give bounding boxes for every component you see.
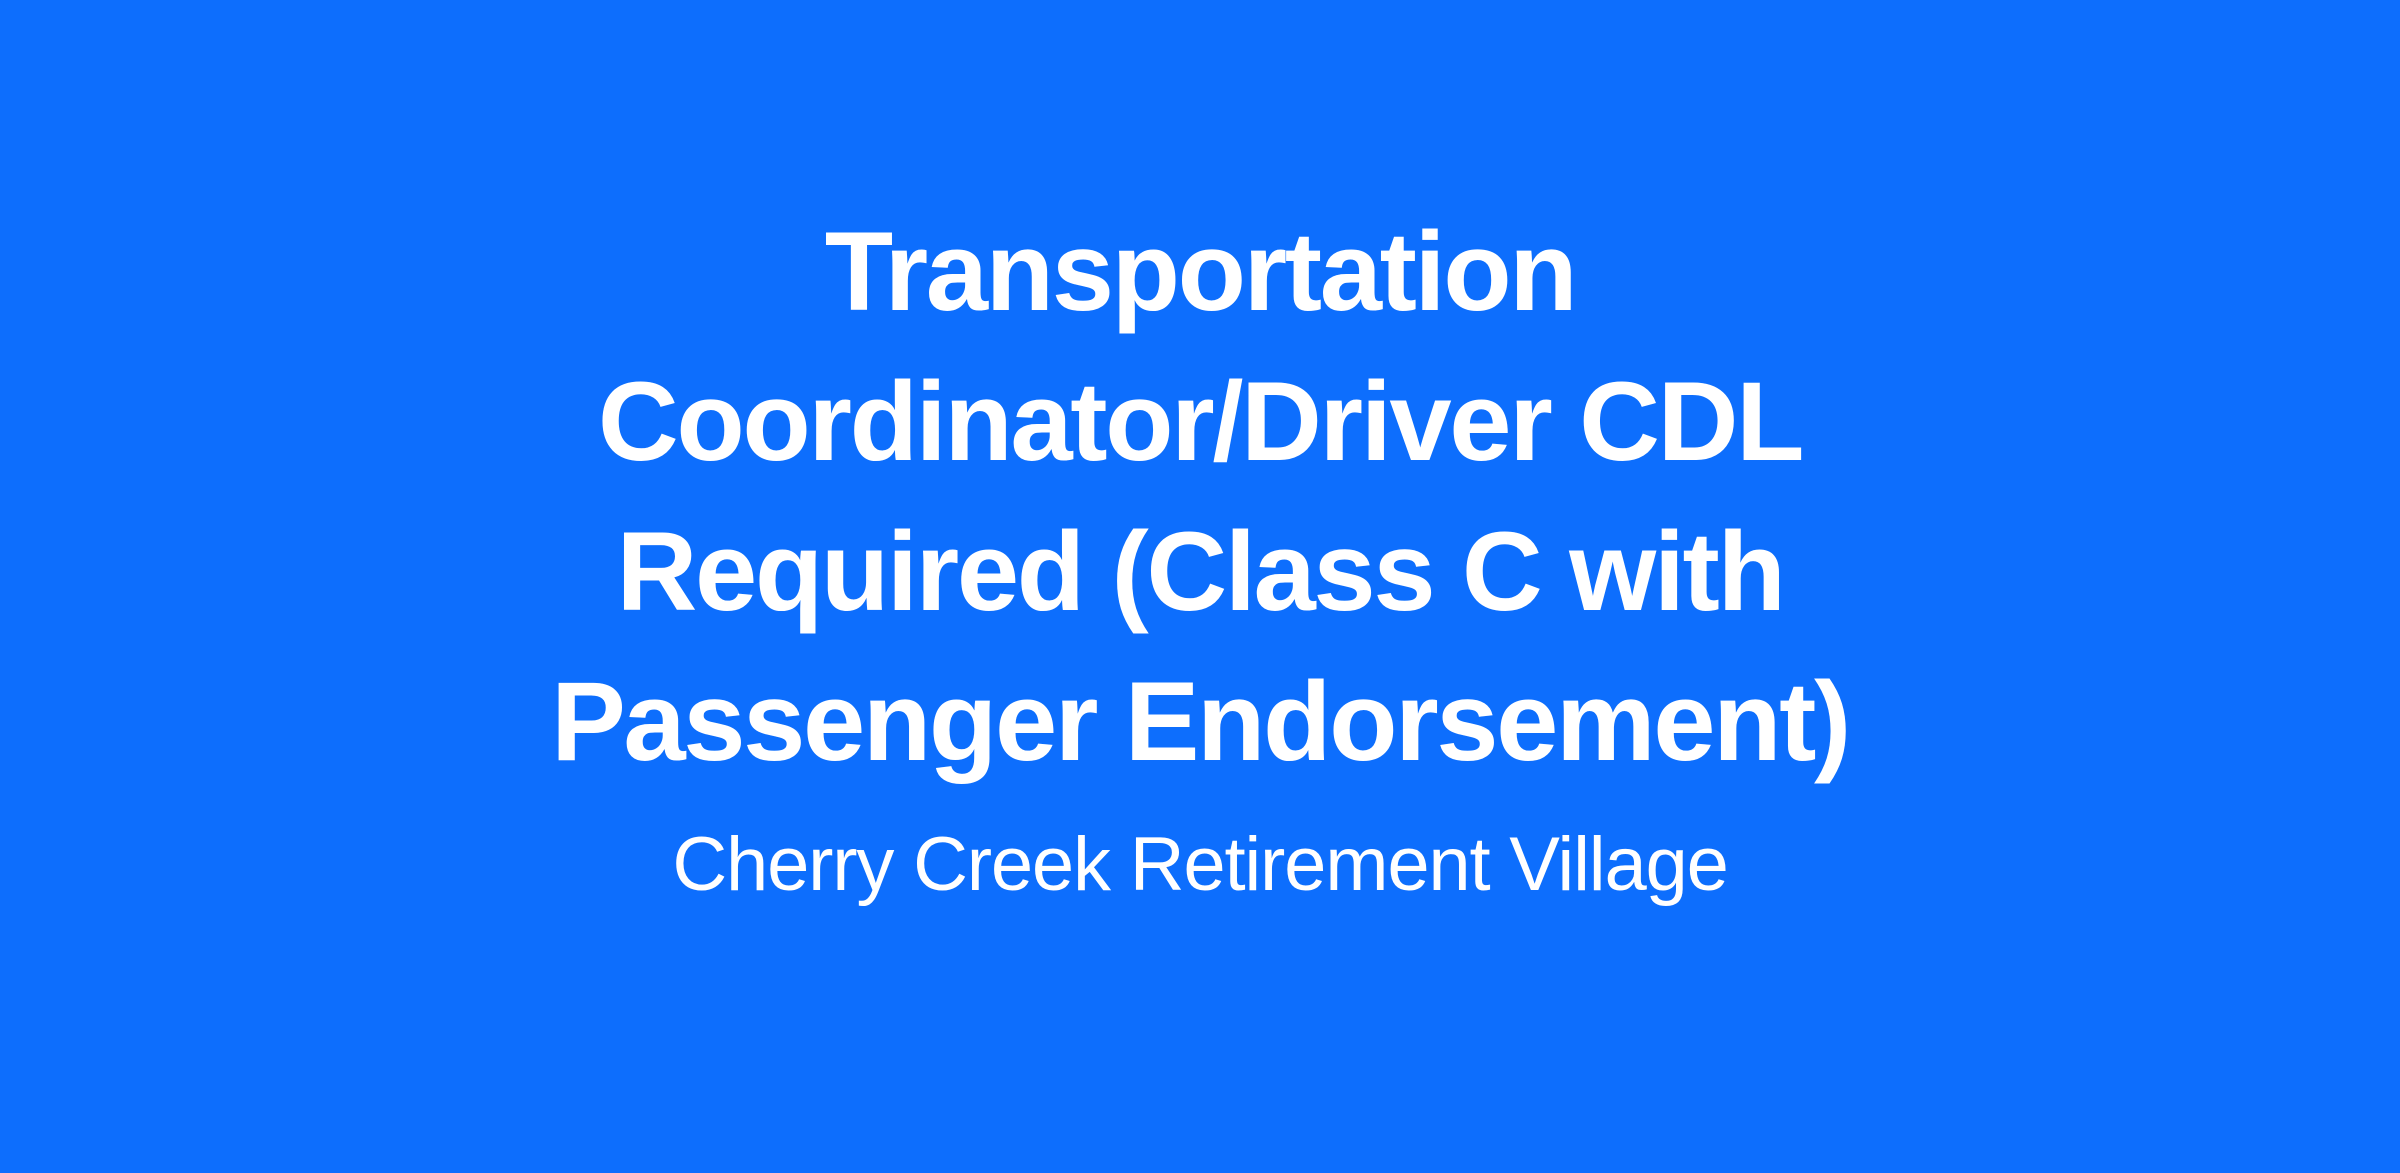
job-title: Transportation Coordinator/Driver CDL Re… xyxy=(460,197,1940,797)
company-name: Cherry Creek Retirement Village xyxy=(672,813,1727,917)
job-posting-text-block: Transportation Coordinator/Driver CDL Re… xyxy=(300,197,2100,917)
job-posting-card: Transportation Coordinator/Driver CDL Re… xyxy=(0,0,2400,1173)
